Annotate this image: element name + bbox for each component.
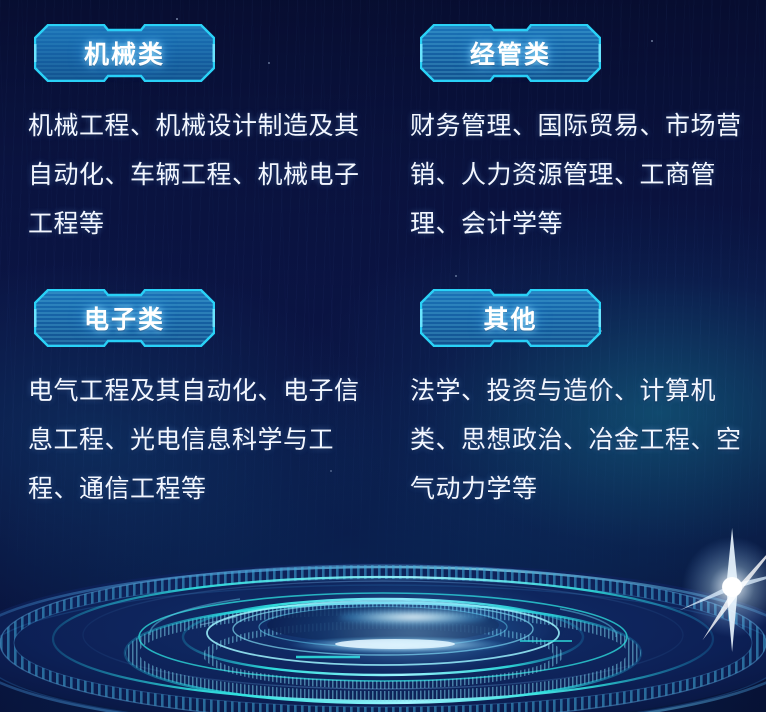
badge-label: 其他 — [420, 289, 601, 347]
category-description: 机械工程、机械设计制造及其自动化、车辆工程、机械电子工程等 — [28, 102, 360, 249]
badge-other[interactable]: 其他 — [420, 289, 601, 347]
category-description: 法学、投资与造价、计算机类、思想政治、冶金工程、空气动力学等 — [410, 367, 748, 514]
category-card-mechanical: 机械类 机械工程、机械设计制造及其自动化、车辆工程、机械电子工程等 — [0, 24, 386, 249]
category-card-electronics: 电子类 电气工程及其自动化、电子信息工程、光电信息科学与工程、通信工程等 — [0, 249, 386, 514]
badge-label: 机械类 — [34, 24, 215, 82]
badge-electronics[interactable]: 电子类 — [34, 289, 215, 347]
category-card-economics-management: 经管类 财务管理、国际贸易、市场营销、人力资源管理、工商管理、会计学等 — [386, 24, 766, 249]
category-grid: 机械类 机械工程、机械设计制造及其自动化、车辆工程、机械电子工程等 — [0, 0, 766, 514]
category-description: 电气工程及其自动化、电子信息工程、光电信息科学与工程、通信工程等 — [28, 367, 360, 514]
poster-root: 机械类 机械工程、机械设计制造及其自动化、车辆工程、机械电子工程等 — [0, 0, 766, 712]
badge-label: 经管类 — [420, 24, 601, 82]
badge-economics-management[interactable]: 经管类 — [420, 24, 601, 82]
category-description: 财务管理、国际贸易、市场营销、人力资源管理、工商管理、会计学等 — [410, 102, 748, 249]
badge-label: 电子类 — [34, 289, 215, 347]
category-card-other: 其他 法学、投资与造价、计算机类、思想政治、冶金工程、空气动力学等 — [386, 249, 766, 514]
badge-mechanical[interactable]: 机械类 — [34, 24, 215, 82]
